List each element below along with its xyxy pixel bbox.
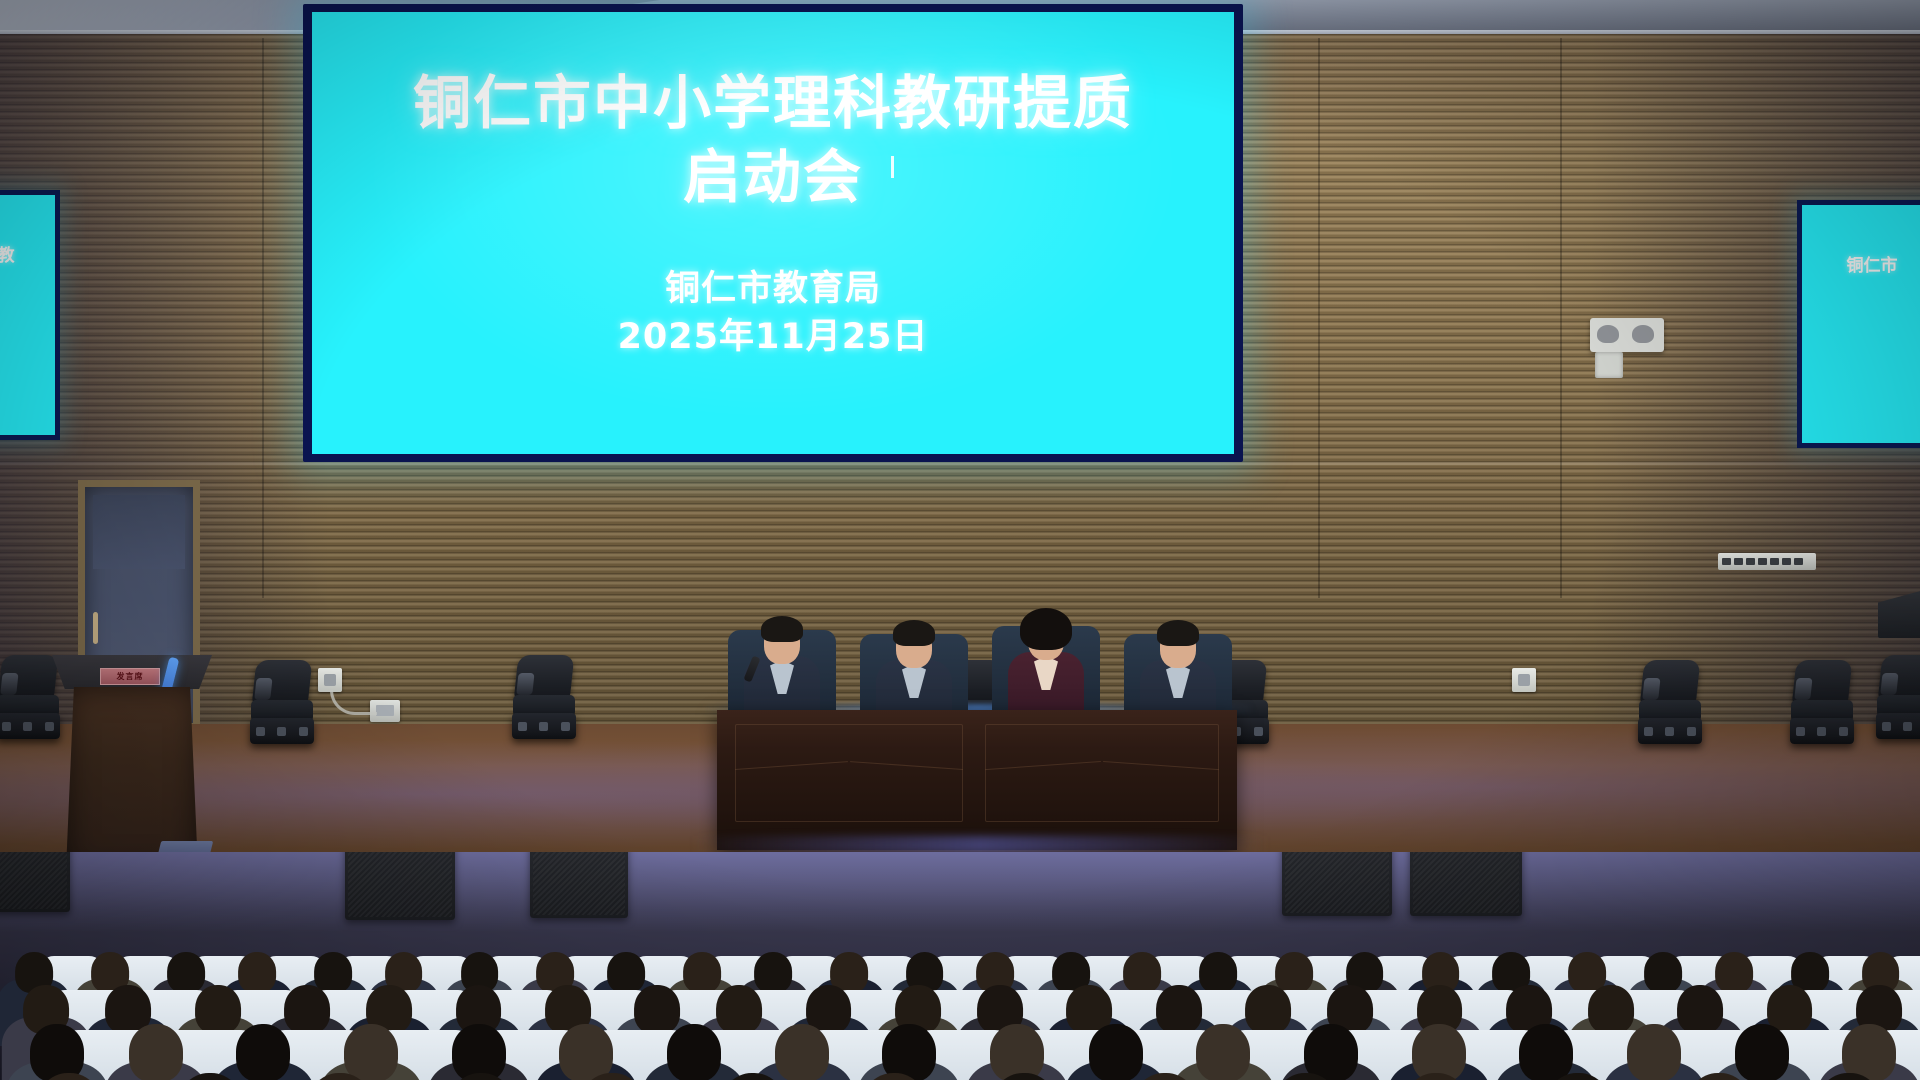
moving-head-light [1638, 660, 1702, 744]
head-table-person-3 [1000, 608, 1092, 718]
outlet-socket [1746, 558, 1755, 565]
wall-trim-band [0, 462, 1920, 465]
light-lens [0, 673, 18, 695]
wall-seam [1560, 38, 1562, 598]
moving-head-light [1876, 655, 1920, 739]
light-lens [1794, 678, 1812, 700]
audience-member-head [307, 1073, 373, 1080]
audience-member-head [36, 1073, 102, 1080]
outlet-socket [1758, 558, 1767, 565]
audience-member-head [1816, 1073, 1882, 1080]
side-screen-left: 教 [0, 190, 60, 440]
speaker-podium[interactable]: 发言席 [52, 655, 212, 870]
audience-member-head [449, 1073, 515, 1080]
main-led-screen: 铜仁市中小学理科教研提质 启动会 铜仁市教育局 2025年11月25日 [303, 4, 1243, 462]
light-base [1638, 718, 1702, 744]
audience-member [545, 1066, 679, 1080]
audience-member [143, 1066, 277, 1080]
table-front-panel-left [735, 724, 963, 822]
text-caret [891, 156, 894, 178]
audience-member-head [861, 1073, 927, 1080]
stage-speaker [530, 852, 628, 918]
speaker-grille [348, 852, 452, 917]
head-table-person-1 [736, 612, 828, 722]
moving-head-light [0, 655, 60, 739]
wall-socket[interactable] [1512, 668, 1536, 692]
audience-area: HiVi [0, 852, 1920, 1080]
audience-member [827, 1066, 961, 1080]
person-hair [1157, 620, 1199, 646]
light-lens [1642, 678, 1660, 700]
audience-member [1652, 1066, 1786, 1080]
person-hair [761, 616, 803, 642]
speaker-grille [1413, 852, 1519, 913]
audience-member-head [1273, 1073, 1339, 1080]
outlet-socket [1770, 558, 1779, 565]
speaker-grille [0, 852, 67, 909]
light-base [1790, 718, 1854, 744]
light-lens [516, 673, 534, 695]
door-window-pane [93, 495, 185, 569]
moving-head-light [250, 660, 314, 744]
stage-speaker: HiVi [345, 852, 455, 920]
outlet-socket [1782, 558, 1791, 565]
screen-organization: 铜仁市教育局 [312, 260, 1234, 311]
audience-member [1511, 1066, 1645, 1080]
audience-member [2, 1066, 136, 1080]
light-lens [254, 678, 272, 700]
side-screen-right-display: 铜仁市 [1802, 205, 1920, 443]
stage-speaker [0, 852, 70, 912]
outlet-socket [1794, 558, 1803, 565]
light-base [512, 713, 576, 739]
light-base [1876, 713, 1920, 739]
screen-date: 2025年11月25日 [312, 308, 1234, 359]
side-screen-right: 铜仁市 [1797, 200, 1920, 448]
emergency-control-box [1595, 352, 1623, 378]
audience-member [1098, 1066, 1232, 1080]
screen-title-line1: 铜仁市中小学理科教研提质 [413, 69, 1133, 137]
stage-speaker [1410, 852, 1522, 916]
audience-backlight [0, 852, 1920, 932]
stage-speaker [1282, 852, 1392, 916]
speaker-grille [1285, 852, 1389, 913]
side-screen-left-display: 教 [0, 195, 55, 435]
audience-member [686, 1066, 820, 1080]
audience-member [957, 1066, 1091, 1080]
light-base [0, 713, 60, 739]
outlet-socket [1734, 558, 1743, 565]
podium-sign: 发言席 [100, 668, 160, 685]
person-hair [1020, 608, 1072, 650]
head-table [717, 710, 1237, 850]
table-front-panel-right [985, 724, 1219, 822]
audience-member [273, 1066, 407, 1080]
speaker-grille [533, 852, 625, 915]
wall-socket[interactable] [318, 668, 342, 692]
moving-head-light [512, 655, 576, 739]
outlet-socket [1722, 558, 1731, 565]
side-screen-right-text: 铜仁市 [1802, 251, 1920, 276]
screen-title: 铜仁市中小学理科教研提质 启动会 [312, 66, 1234, 214]
light-lens [1880, 673, 1898, 695]
table-panel-chevron [986, 765, 1218, 793]
audience-member-head [720, 1073, 786, 1080]
audience-member-head [1686, 1073, 1752, 1080]
audience-member [414, 1066, 548, 1080]
audience-member-head [1132, 1073, 1198, 1080]
person-hair [893, 620, 935, 646]
screen-display-area: 铜仁市中小学理科教研提质 启动会 铜仁市教育局 2025年11月25日 [312, 12, 1234, 454]
audience-member [1239, 1066, 1373, 1080]
moving-head-light [1790, 660, 1854, 744]
wall-outlet-strip[interactable] [1718, 553, 1816, 570]
door-handle[interactable] [93, 612, 98, 644]
table-panel-chevron [736, 765, 962, 793]
screen-title-line2: 启动会 [312, 140, 1234, 214]
audience-member-head [579, 1073, 645, 1080]
emergency-light-fixture [1590, 318, 1664, 352]
audience-member-head [991, 1073, 1057, 1080]
auditorium-scene: 铜仁市中小学理科教研提质 启动会 铜仁市教育局 2025年11月25日 教 铜仁… [0, 0, 1920, 1080]
audience-member-head [1545, 1073, 1611, 1080]
light-base [250, 718, 314, 744]
audience-member-head [177, 1073, 243, 1080]
wall-seam [262, 38, 264, 598]
audience-member [1782, 1066, 1916, 1080]
audience-member-head [1404, 1073, 1470, 1080]
wall-seam [1318, 38, 1320, 598]
audience-member [1369, 1066, 1503, 1080]
side-screen-left-text: 教 [0, 241, 55, 266]
